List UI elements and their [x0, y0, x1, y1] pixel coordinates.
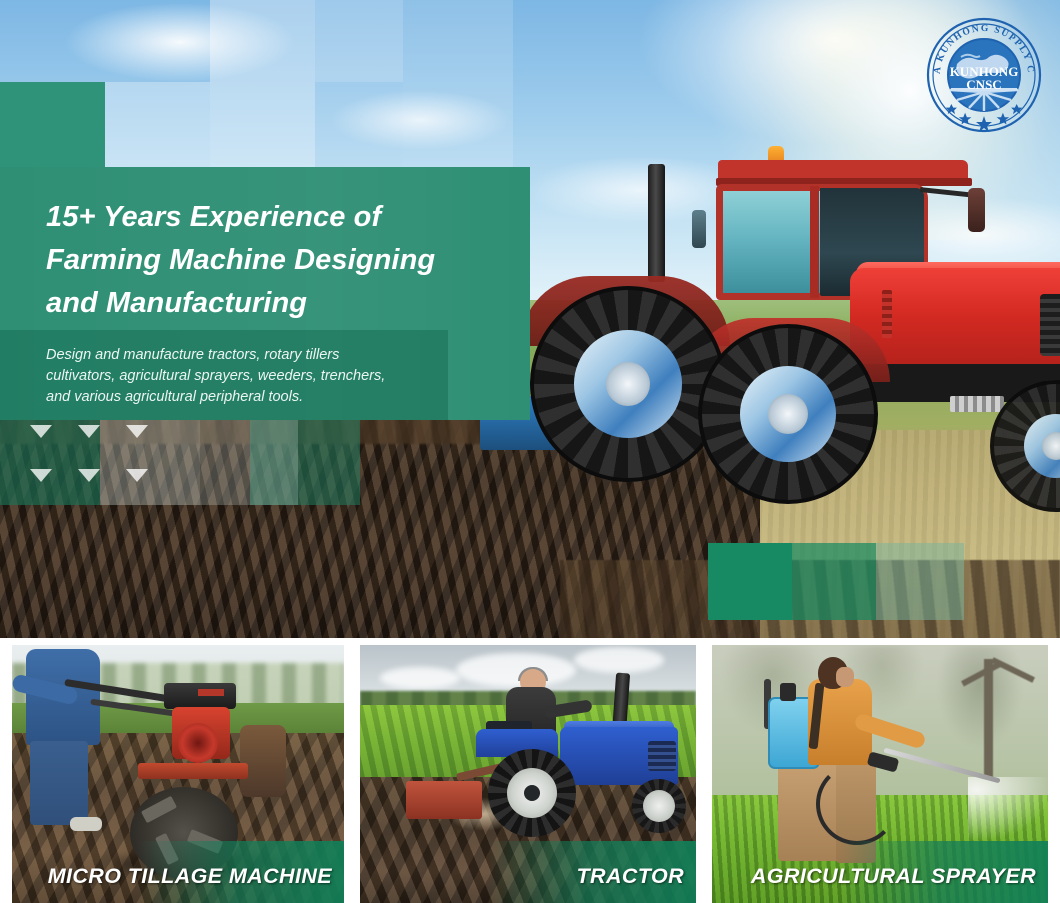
- logo-inner-line-2: CNSC: [966, 77, 1001, 92]
- company-logo: KUNHONG CNSC CHINA KUNHONG SUPPLY CHAIN: [921, 12, 1047, 138]
- product-card-micro-tillage-machine[interactable]: MICRO TILLAGE MACHINE: [12, 645, 344, 903]
- logo-seal-icon: KUNHONG CNSC CHINA KUNHONG SUPPLY CHAIN: [921, 12, 1047, 138]
- decor-block-right-2: [792, 543, 876, 620]
- decor-block-3: [200, 420, 298, 505]
- hero-section: 15+ Years Experience of Farming Machine …: [0, 0, 1060, 638]
- subcopy-line-3: and various agricultural peripheral tool…: [46, 387, 476, 408]
- triangle-down-icon: [30, 469, 52, 482]
- card-caption-micro-tillage-machine: MICRO TILLAGE MACHINE: [48, 864, 332, 889]
- subcopy-text: Design and manufacture tractors, rotary …: [46, 345, 476, 408]
- triangle-down-icon: [78, 469, 100, 482]
- subcopy-line-1: Design and manufacture tractors, rotary …: [46, 345, 476, 366]
- triangle-down-icon: [126, 469, 148, 482]
- card-caption-tractor: TRACTOR: [576, 864, 684, 889]
- headline-line-1: 15+ Years Experience of: [46, 196, 526, 239]
- card-caption-agricultural-sprayer: AGRICULTURAL SPRAYER: [751, 864, 1036, 889]
- product-card-row: MICRO TILLAGE MACHINE: [0, 645, 1060, 903]
- product-card-agricultural-sprayer[interactable]: AGRICULTURAL SPRAYER: [712, 645, 1048, 903]
- product-card-tractor[interactable]: TRACTOR: [360, 645, 696, 903]
- decor-block-right-1: [708, 543, 792, 620]
- subcopy-line-2: cultivators, agricultural sprayers, weed…: [46, 366, 476, 387]
- product-banner: 15+ Years Experience of Farming Machine …: [0, 0, 1060, 903]
- decor-block-right-3: [876, 543, 964, 620]
- page-title: 15+ Years Experience of Farming Machine …: [46, 196, 526, 325]
- headline-line-3: and Manufacturing: [46, 282, 526, 325]
- triangle-down-icon: [126, 425, 148, 438]
- arrow-decoration-grid: [30, 425, 170, 505]
- triangle-down-icon: [78, 425, 100, 438]
- headline-line-2: Farming Machine Designing: [46, 239, 526, 282]
- triangle-down-icon: [30, 425, 52, 438]
